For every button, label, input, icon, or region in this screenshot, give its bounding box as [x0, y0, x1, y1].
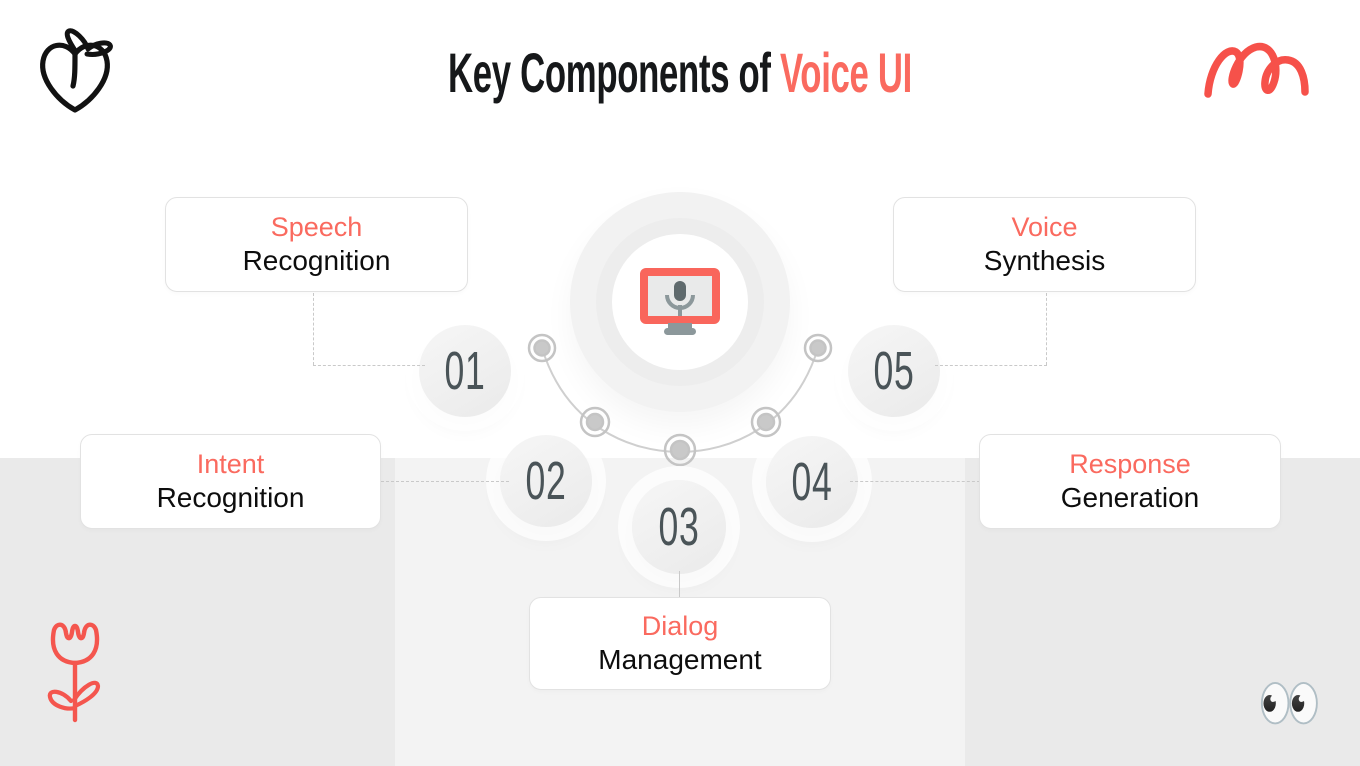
step-card-line2: Recognition: [243, 244, 391, 278]
step-card-line1: Intent: [197, 448, 265, 481]
step-number-circle-01[interactable]: 01: [419, 325, 511, 417]
connector-speech-horizontal: [313, 365, 425, 366]
step-card-line2: Management: [598, 643, 761, 677]
page-title: Key Components of Voice UI: [258, 40, 1101, 106]
eyes-emoji-icon: 👀: [1257, 678, 1322, 730]
step-number-label: 04: [792, 451, 833, 513]
connector-dialog-vertical: [679, 571, 680, 598]
step-card-response-generation[interactable]: Response Generation: [979, 434, 1281, 529]
step-card-line2: Recognition: [157, 481, 305, 515]
step-card-line1: Speech: [271, 211, 363, 244]
step-number-circle-04[interactable]: 04: [766, 436, 858, 528]
step-card-voice-synthesis[interactable]: Voice Synthesis: [893, 197, 1196, 292]
connector-voice-vertical: [1046, 293, 1047, 365]
step-number-circle-03[interactable]: 03: [632, 480, 726, 574]
step-number-label: 02: [526, 450, 567, 512]
monitor-microphone-icon: [637, 265, 723, 339]
connector-intent-horizontal: [381, 481, 509, 482]
step-card-speech-recognition[interactable]: Speech Recognition: [165, 197, 468, 292]
connector-voice-horizontal: [935, 365, 1047, 366]
step-number-circle-05[interactable]: 05: [848, 325, 940, 417]
slide-canvas: Key Components of Voice UI: [0, 0, 1360, 766]
step-card-line2: Generation: [1061, 481, 1200, 515]
step-number-label: 05: [874, 340, 915, 402]
connector-speech-vertical: [313, 293, 314, 365]
step-card-line1: Response: [1069, 448, 1191, 481]
title-accent: Voice UI: [780, 41, 912, 104]
step-card-line1: Dialog: [642, 610, 719, 643]
step-card-intent-recognition[interactable]: Intent Recognition: [80, 434, 381, 529]
apple-outline-icon: [32, 24, 118, 120]
step-number-label: 01: [445, 340, 486, 402]
step-card-line2: Synthesis: [984, 244, 1105, 278]
tulip-flower-icon: [40, 616, 110, 724]
squiggle-scribble-icon: [1202, 32, 1332, 104]
connector-response-horizontal: [850, 481, 980, 482]
step-card-dialog-management[interactable]: Dialog Management: [529, 597, 831, 690]
step-card-line1: Voice: [1011, 211, 1077, 244]
step-number-label: 03: [659, 496, 700, 558]
title-main: Key Components of: [448, 41, 780, 104]
step-number-circle-02[interactable]: 02: [500, 435, 592, 527]
